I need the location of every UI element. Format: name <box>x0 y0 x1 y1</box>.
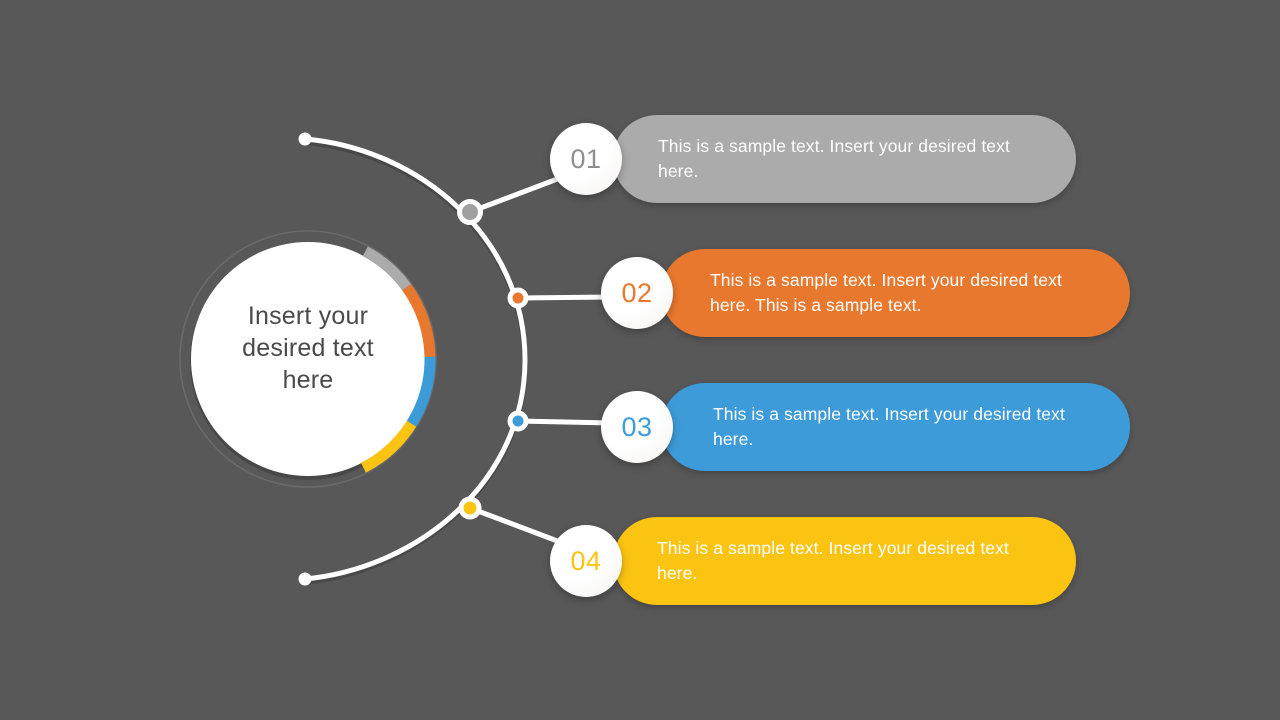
item-text-04: This is a sample text. Insert your desir… <box>657 536 1042 586</box>
connector-line-02 <box>518 297 612 298</box>
connector-line-03 <box>518 421 612 423</box>
item-number-badge-02[interactable]: 02 <box>601 257 673 329</box>
item-pill-04[interactable]: This is a sample text. Insert your desir… <box>613 517 1076 605</box>
item-number-badge-04[interactable]: 04 <box>550 525 622 597</box>
spine-node-02[interactable] <box>510 290 526 306</box>
spine-node-04[interactable] <box>461 499 479 517</box>
item-pill-01[interactable]: This is a sample text. Insert your desir… <box>613 115 1076 203</box>
connector-line-01 <box>470 178 560 212</box>
infographic-slide: Insert your desired text here This is a … <box>0 0 1280 720</box>
item-text-02: This is a sample text. Insert your desir… <box>710 268 1096 318</box>
item-pill-03[interactable]: This is a sample text. Insert your desir… <box>661 383 1130 471</box>
spine-node-03[interactable] <box>510 413 526 429</box>
item-number-badge-03[interactable]: 03 <box>601 391 673 463</box>
connector-lines <box>470 178 612 542</box>
item-text-01: This is a sample text. Insert your desir… <box>658 134 1042 184</box>
diagram-artwork <box>0 0 1280 720</box>
spine-endpoint-top <box>299 133 312 146</box>
spine-node-01[interactable] <box>460 202 481 223</box>
item-number-badge-01[interactable]: 01 <box>550 123 622 195</box>
spine-endpoint-bottom <box>299 573 312 586</box>
item-text-03: This is a sample text. Insert your desir… <box>713 402 1096 452</box>
item-pill-02[interactable]: This is a sample text. Insert your desir… <box>661 249 1130 337</box>
connector-line-04 <box>470 508 560 542</box>
hub-disc <box>191 242 425 476</box>
